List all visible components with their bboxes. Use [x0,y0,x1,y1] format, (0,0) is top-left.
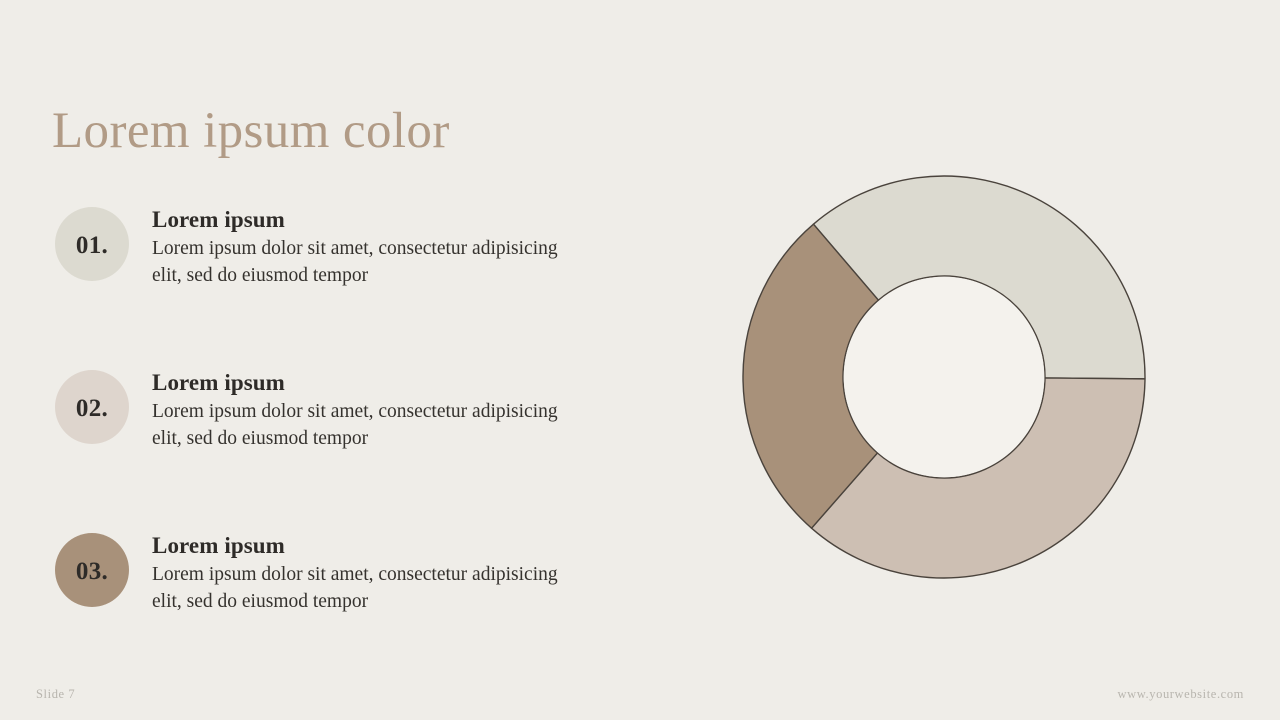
bullet-number-label: 03. [76,559,108,584]
donut-chart [735,168,1153,586]
bullet-number-label: 02. [76,396,108,421]
bullet-list: 01. Lorem ipsum Lorem ipsum dolor sit am… [55,203,635,615]
bullet-heading: Lorem ipsum [152,370,635,396]
bullet-heading: Lorem ipsum [152,533,635,559]
page-title: Lorem ipsum color [52,100,450,162]
donut-center-hole [844,277,1045,478]
donut-chart-svg [735,168,1153,586]
list-item[interactable]: 03. Lorem ipsum Lorem ipsum dolor sit am… [55,533,635,615]
slide-canvas: Lorem ipsum color 01. Lorem ipsum Lorem … [0,0,1280,720]
list-item[interactable]: 02. Lorem ipsum Lorem ipsum dolor sit am… [55,370,635,452]
bullet-number-label: 01. [76,233,108,258]
bullet-heading: Lorem ipsum [152,207,635,233]
bullet-body-text: Lorem ipsum dolor sit amet, consectetur … [152,562,572,615]
bullet-number-badge: 03. [55,533,129,607]
bullet-body-text: Lorem ipsum dolor sit amet, consectetur … [152,399,572,452]
footer-slide-number: Slide 7 [36,686,75,702]
bullet-body-text: Lorem ipsum dolor sit amet, consectetur … [152,236,572,289]
bullet-number-badge: 02. [55,370,129,444]
bullet-number-badge: 01. [55,207,129,281]
footer-website-link: www.yourwebsite.com [1117,686,1244,702]
list-item[interactable]: 01. Lorem ipsum Lorem ipsum dolor sit am… [55,207,635,289]
